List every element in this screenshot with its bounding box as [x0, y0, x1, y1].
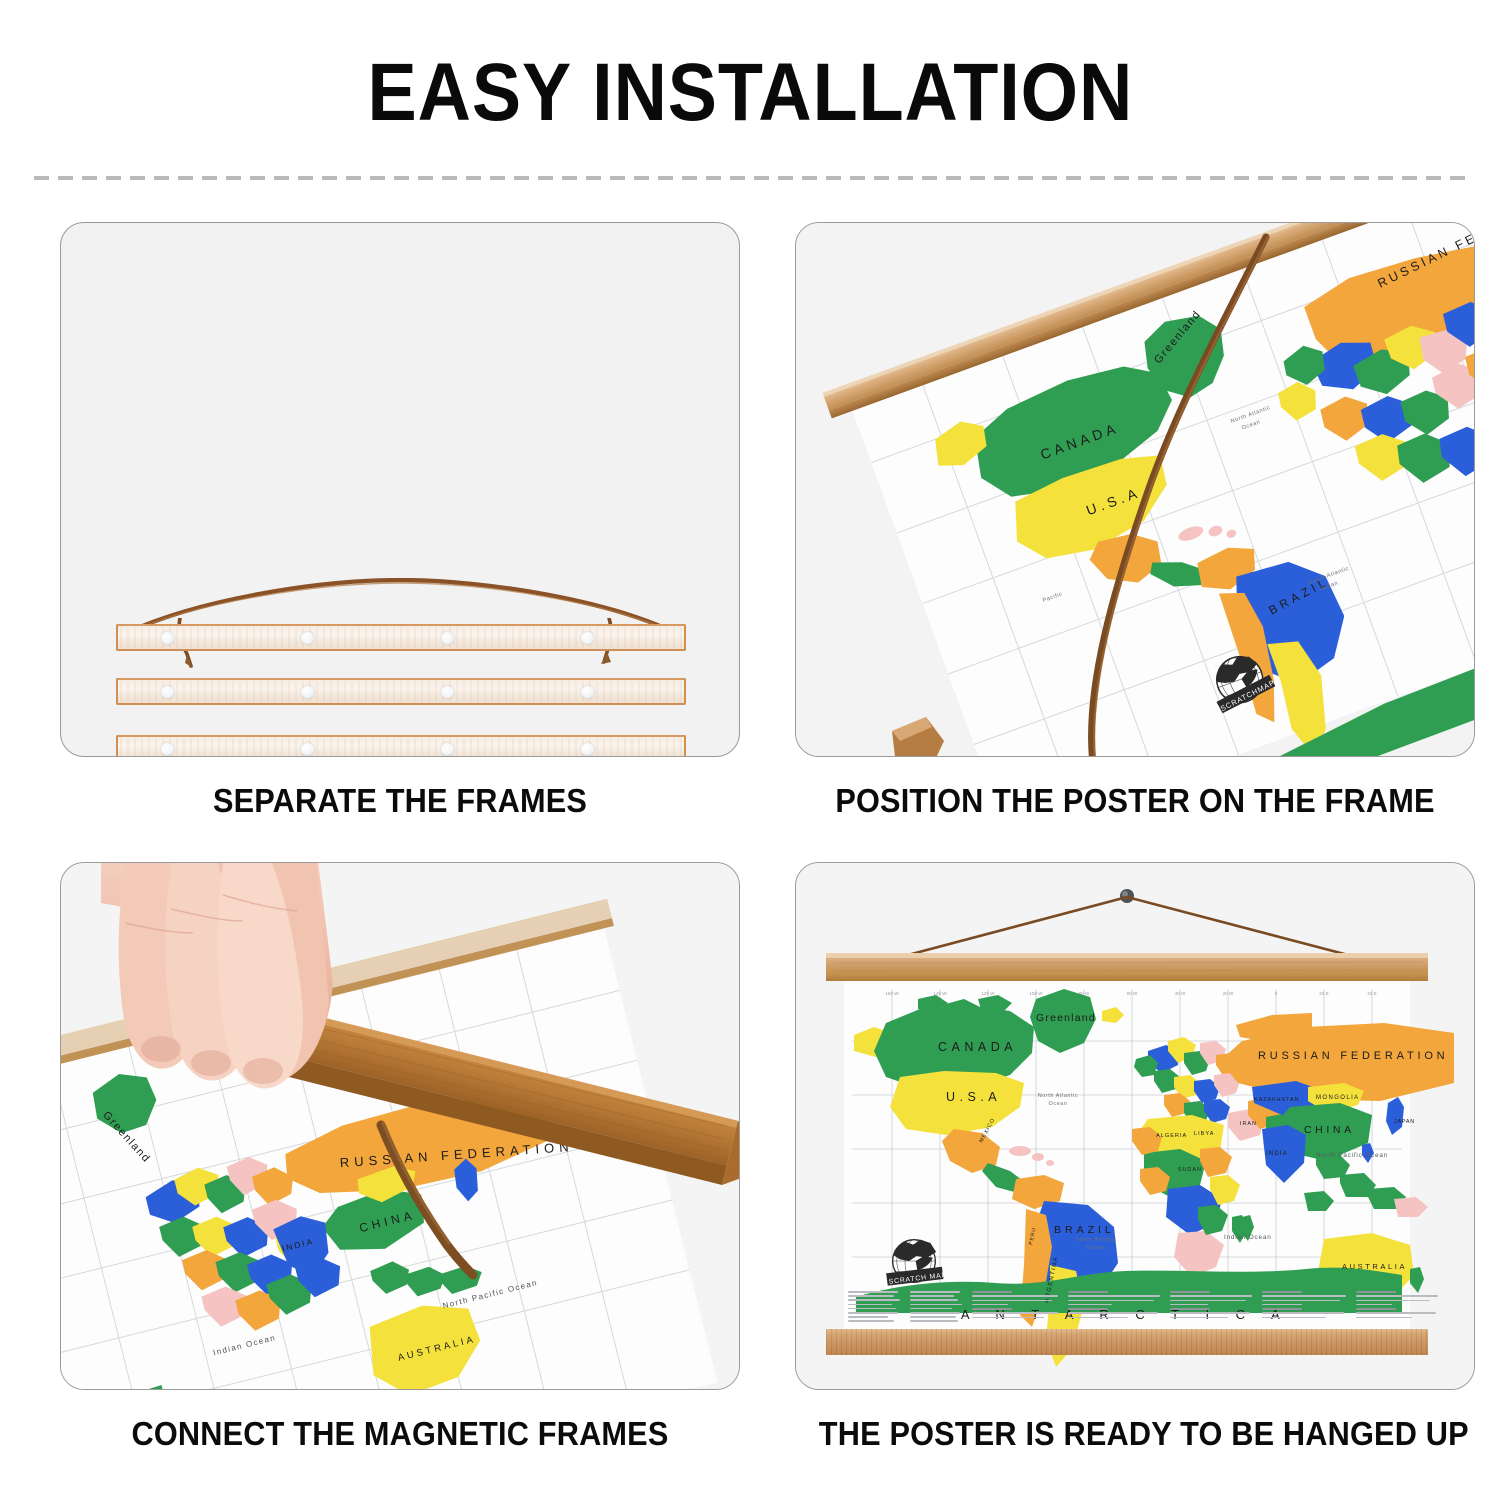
magnet-dot [301, 632, 314, 644]
map-label-indian-ocean: Indian Ocean [1224, 1234, 1272, 1241]
magnet-dot [161, 632, 174, 644]
map-label-australia: AUSTRALIA [1342, 1262, 1407, 1271]
panel-separate-frames [60, 222, 740, 757]
svg-text:0: 0 [1275, 991, 1278, 996]
svg-text:60 W: 60 W [1127, 991, 1138, 996]
map-label-iran: IRAN [1240, 1121, 1257, 1127]
magnet-dot [161, 743, 174, 755]
svg-text:40 E: 40 E [1367, 991, 1376, 996]
map-label-north-atlantic-ocean: North Atlantic [1038, 1093, 1078, 1099]
magnet-dot [301, 686, 314, 698]
dashed-divider [34, 176, 1466, 180]
caption-step-3: CONNECT THE MAGNETIC FRAMES [84, 1415, 716, 1453]
caption-step-2: POSITION THE POSTER ON THE FRAME [819, 782, 1451, 820]
caption-step-1: SEPARATE THE FRAMES [84, 782, 716, 820]
magnet-dot [301, 743, 314, 755]
frame-strip[interactable] [116, 678, 686, 705]
caption-step-4: THE POSTER IS READY TO BE HANGED UP [819, 1415, 1451, 1453]
map-label-south-atlantic-ocean: South Atlantic [1075, 1237, 1116, 1243]
map-label-japan: JAPAN [1394, 1119, 1415, 1125]
panel-ready-to-hang: 160 W140 W 120 W100 W 80 W60 W 40 W20 W … [795, 862, 1475, 1390]
poster-on-frame-illustration: CANADA U.S.A Greenland RUSSIAN FEDERAT B… [796, 223, 1475, 757]
magnet-dot [581, 632, 594, 644]
magnet-dot [441, 743, 454, 755]
magnet-dot [581, 686, 594, 698]
map-label-china: CHINA [1304, 1124, 1355, 1136]
poster-legend [848, 1291, 1414, 1322]
infographic-page: EASY INSTALLATION [0, 0, 1500, 1500]
map-label-mongolia: MONGOLIA [1316, 1095, 1360, 1101]
map-label-canada: CANADA [938, 1040, 1017, 1054]
bottom-wood-bar [826, 1329, 1428, 1355]
map-label-brazil: BRAZIL [1054, 1224, 1115, 1236]
svg-text:160 W: 160 W [885, 991, 899, 996]
connect-frames-illustration: NADA S.A Greenland RUSSIAN FEDERATION CH… [61, 863, 740, 1390]
title-bar: EASY INSTALLATION [0, 52, 1500, 134]
frame-strip[interactable] [116, 624, 686, 651]
map-label-greenland: Greenland [1036, 1012, 1096, 1024]
panel-connect-magnetic-frames: NADA S.A Greenland RUSSIAN FEDERATION CH… [60, 862, 740, 1390]
magnet-dot [441, 686, 454, 698]
magnet-dot [441, 632, 454, 644]
page-title: EASY INSTALLATION [367, 52, 1133, 134]
map-label-russia: RUSSIAN FEDERATION [1258, 1050, 1448, 1062]
svg-text:20 W: 20 W [1223, 991, 1234, 996]
map-label-algeria: ALGERIA [1156, 1133, 1187, 1139]
svg-text:100 W: 100 W [1029, 991, 1043, 996]
magnet-dot [161, 686, 174, 698]
map-label-libya: LIBYA [1194, 1131, 1214, 1137]
map-label-north-pacific-ocean: North Pacific Ocean [1316, 1152, 1388, 1159]
map-label-kazakhstan: KAZAKHSTAN [1254, 1097, 1300, 1103]
panel-position-poster: CANADA U.S.A Greenland RUSSIAN FEDERAT B… [795, 222, 1475, 757]
frame-strip[interactable] [116, 735, 686, 757]
map-label-sudan: SUDAN [1178, 1167, 1202, 1173]
svg-text:40 W: 40 W [1175, 991, 1186, 996]
svg-text:Ocean: Ocean [1087, 1245, 1106, 1251]
magnet-dot [581, 743, 594, 755]
svg-text:120 W: 120 W [981, 991, 995, 996]
svg-text:20 E: 20 E [1319, 991, 1328, 996]
map-label-usa: U.S.A [946, 1090, 1001, 1104]
svg-text:Ocean: Ocean [1049, 1101, 1068, 1107]
map-label-india: INDIA [1266, 1151, 1288, 1157]
